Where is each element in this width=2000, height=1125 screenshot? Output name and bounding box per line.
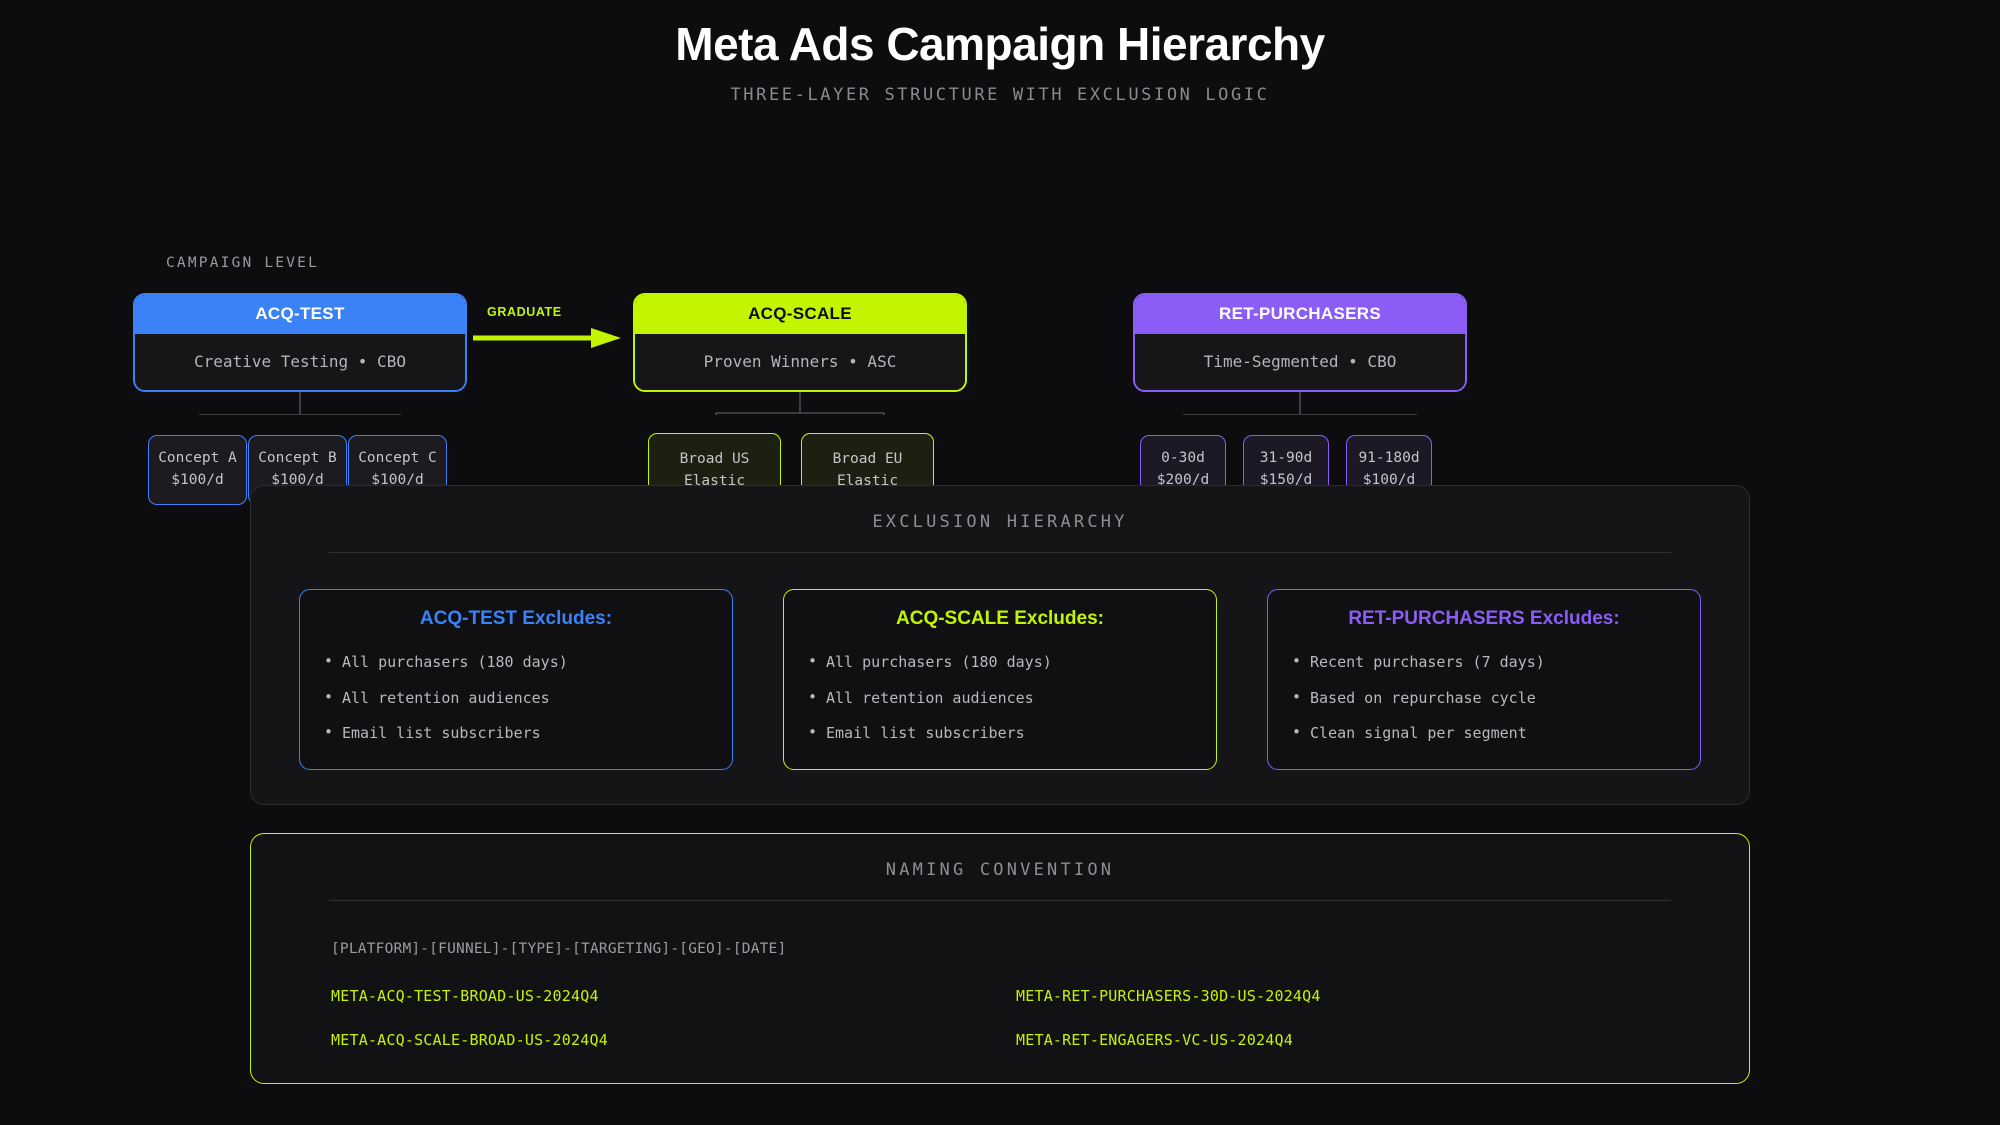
- exclusion-card-acq-test[interactable]: ACQ-TEST Excludes: All purchasers (180 d…: [299, 589, 733, 770]
- list-item: Email list subscribers: [322, 723, 710, 747]
- naming-pattern: [PLATFORM]-[FUNNEL]-[TYPE]-[TARGETING]-[…: [299, 937, 1701, 987]
- naming-panel-title: NAMING CONVENTION: [299, 860, 1701, 900]
- list-item: All purchasers (180 days): [806, 652, 1194, 688]
- adset-label-line1: Broad US: [680, 451, 750, 467]
- exclusion-panel-divider: [329, 552, 1671, 553]
- campaign-subtitle-ret-purchasers: Time-Segmented • CBO: [1135, 334, 1465, 390]
- list-item: Recent purchasers (7 days): [1290, 652, 1678, 688]
- page-title: Meta Ads Campaign Hierarchy: [0, 18, 2000, 71]
- adset-label-line1: Concept C: [358, 450, 437, 466]
- naming-example: META-ACQ-SCALE-BROAD-US-2024Q4: [331, 1031, 1016, 1049]
- adset-label-line1: Concept A: [158, 450, 237, 466]
- adset-label-line1: 0-30d: [1161, 450, 1205, 466]
- page-header: Meta Ads Campaign Hierarchy THREE-LAYER …: [0, 0, 2000, 105]
- list-item: Email list subscribers: [806, 723, 1194, 747]
- campaign-column-acq-test: ACQ-TEST Creative Testing • CBO: [133, 293, 467, 392]
- list-item: All retention audiences: [322, 688, 710, 724]
- exclusion-list: Recent purchasers (7 days) Based on repu…: [1290, 652, 1678, 747]
- exclusion-list: All purchasers (180 days) All retention …: [806, 652, 1194, 747]
- naming-panel-divider: [329, 900, 1671, 901]
- exclusion-list: All purchasers (180 days) All retention …: [322, 652, 710, 747]
- campaign-column-acq-scale: ACQ-SCALE Proven Winners • ASC: [633, 293, 967, 392]
- campaign-level-label: CAMPAIGN LEVEL: [166, 255, 319, 271]
- adset-label-line1: 31-90d: [1260, 450, 1312, 466]
- graduate-transition: GRADUATE: [470, 305, 635, 365]
- graduate-label: GRADUATE: [487, 305, 562, 319]
- adset-label-line1: 91-180d: [1358, 450, 1419, 466]
- list-item: All retention audiences: [806, 688, 1194, 724]
- graduate-arrow-icon: [473, 325, 625, 351]
- campaign-name-acq-test: ACQ-TEST: [135, 295, 465, 334]
- campaign-name-acq-scale: ACQ-SCALE: [635, 295, 965, 334]
- list-item: Clean signal per segment: [1290, 723, 1678, 747]
- exclusion-card-acq-scale[interactable]: ACQ-SCALE Excludes: All purchasers (180 …: [783, 589, 1217, 770]
- exclusion-card-title: ACQ-TEST Excludes:: [322, 608, 710, 652]
- naming-convention-panel: NAMING CONVENTION [PLATFORM]-[FUNNEL]-[T…: [250, 833, 1750, 1084]
- campaign-box-acq-scale[interactable]: ACQ-SCALE Proven Winners • ASC: [633, 293, 967, 392]
- campaign-hierarchy-diagram: CAMPAIGN LEVEL GRADUATE ACQ-TEST Creativ…: [0, 105, 2000, 415]
- adset-label-line2: $100/d: [149, 469, 246, 491]
- campaign-subtitle-acq-scale: Proven Winners • ASC: [635, 334, 965, 390]
- list-item: All purchasers (180 days): [322, 652, 710, 688]
- campaign-name-ret-purchasers: RET-PURCHASERS: [1135, 295, 1465, 334]
- exclusion-hierarchy-panel: EXCLUSION HIERARCHY ACQ-TEST Excludes: A…: [250, 485, 1750, 805]
- exclusion-card-title: ACQ-SCALE Excludes:: [806, 608, 1194, 652]
- exclusion-panel-title: EXCLUSION HIERARCHY: [299, 512, 1701, 552]
- naming-example: META-ACQ-TEST-BROAD-US-2024Q4: [331, 987, 1016, 1005]
- list-item: Based on repurchase cycle: [1290, 688, 1678, 724]
- campaign-column-ret-purchasers: RET-PURCHASERS Time-Segmented • CBO: [1133, 293, 1467, 392]
- adset-label-line1: Concept B: [258, 450, 337, 466]
- page-subtitle: THREE-LAYER STRUCTURE WITH EXCLUSION LOG…: [0, 85, 2000, 105]
- adset-label-line1: Broad EU: [833, 451, 903, 467]
- naming-example: META-RET-PURCHASERS-30D-US-2024Q4: [1016, 987, 1701, 1005]
- campaign-subtitle-acq-test: Creative Testing • CBO: [135, 334, 465, 390]
- exclusion-card-ret-purchasers[interactable]: RET-PURCHASERS Excludes: Recent purchase…: [1267, 589, 1701, 770]
- adset-box[interactable]: Concept A $100/d: [148, 435, 247, 505]
- exclusion-card-grid: ACQ-TEST Excludes: All purchasers (180 d…: [299, 589, 1701, 770]
- naming-examples-grid: META-ACQ-TEST-BROAD-US-2024Q4 META-RET-P…: [299, 987, 1701, 1049]
- exclusion-card-title: RET-PURCHASERS Excludes:: [1290, 608, 1678, 652]
- campaign-box-ret-purchasers[interactable]: RET-PURCHASERS Time-Segmented • CBO: [1133, 293, 1467, 392]
- naming-example: META-RET-ENGAGERS-VC-US-2024Q4: [1016, 1031, 1701, 1049]
- campaign-box-acq-test[interactable]: ACQ-TEST Creative Testing • CBO: [133, 293, 467, 392]
